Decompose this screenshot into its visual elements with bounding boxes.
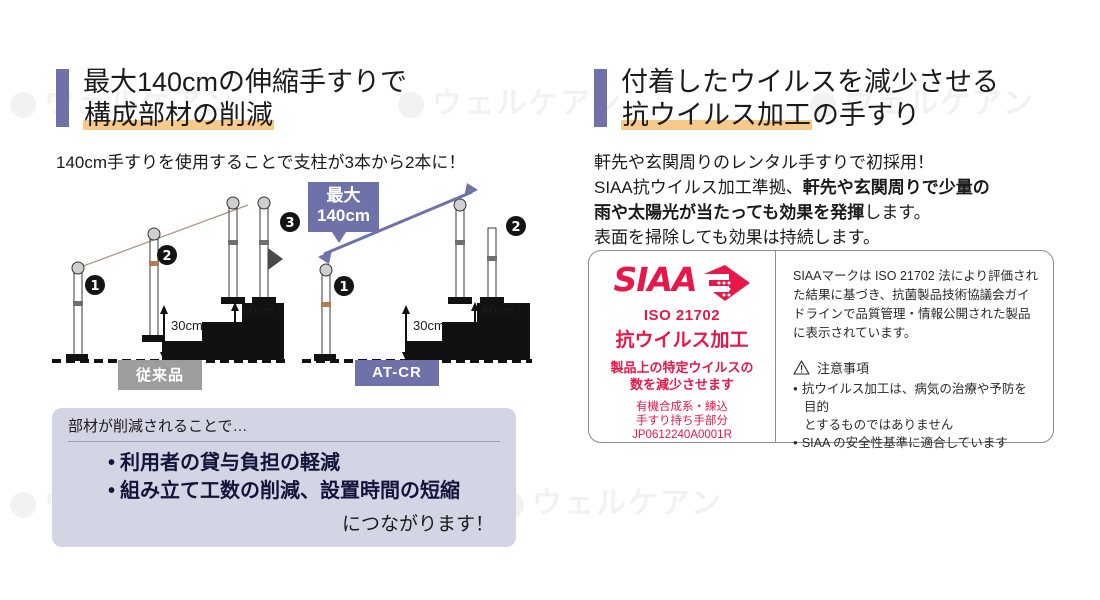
- heading-accent-bar: [56, 69, 69, 127]
- left-heading-line-2: 構成部材の削減: [83, 99, 407, 132]
- svg-text:2: 2: [511, 220, 520, 235]
- watermark: ウェルケアン: [398, 78, 623, 122]
- right-lead-line-4: 表面を掃除しても効果は持続します。: [594, 225, 990, 250]
- post-new-2: [448, 199, 504, 304]
- dim-label-60-new: 60cm: [482, 303, 514, 318]
- svg-text:2: 2: [162, 249, 171, 264]
- brochure-page: ウェルケアン ウェルケアン ウェルケアン ウェルケアン ウェルケアン 最大140…: [0, 0, 1100, 600]
- right-lead-line-3: 雨や太陽光が当たっても効果を発揮します。: [594, 200, 990, 225]
- siaa-logo-panel: SIAA ISO 21702 抗ウイルス加工 製品上の特定ウイルスの 数を減少さ…: [589, 251, 776, 442]
- heading-accent-bar: [594, 69, 607, 127]
- siaa-registration-code: 有機合成系・練込 手すり持ち手部分 JP0612240A0001R: [589, 400, 775, 442]
- dim-label-30-new: 30cm: [413, 318, 445, 333]
- watermark-icon: [10, 92, 36, 118]
- right-heading-line-2: 抗ウイルス加工の手すり: [621, 99, 999, 132]
- benefit-item: 利用者の貸与負担の軽減: [68, 449, 500, 477]
- siaa-notes-panel: SIAAマークは ISO 21702 法により評価された結果に基づき、抗菌製品技…: [776, 251, 1053, 442]
- right-lead-text: 軒先や玄関周りのレンタル手すりで初採用！ SIAA抗ウイルス加工準拠、軒先や玄関…: [594, 150, 990, 250]
- right-heading-highlight: 抗ウイルス加工: [621, 100, 812, 130]
- right-lead-line-1: 軒先や玄関周りのレンタル手すりで初採用！: [594, 150, 990, 175]
- comparison-arrow-icon: [268, 248, 283, 270]
- caution-item-continued: とするものではありません: [793, 416, 1039, 434]
- post-badge-old-2: 2: [157, 245, 177, 265]
- post-new-1: [314, 264, 336, 361]
- caution-item: SIAA の安全性基準に適合しています: [793, 434, 1039, 452]
- post-old-1: [66, 262, 88, 361]
- post-badge-new-1: 1: [334, 276, 354, 296]
- label-atcr: AT-CR: [355, 360, 439, 386]
- siaa-mark-explanation: SIAAマークは ISO 21702 法により評価された結果に基づき、抗菌製品技…: [793, 267, 1039, 343]
- caution-item: 抗ウイルス加工は、病気の治療や予防を目的: [793, 380, 1039, 416]
- post-badge-old-3: 3: [280, 212, 300, 232]
- siaa-description: 製品上の特定ウイルスの 数を減少させます: [589, 359, 775, 393]
- callout-pointer-icon: [330, 229, 348, 243]
- right-lead-line-2: SIAA抗ウイルス加工準拠、軒先や玄関周りで少量の: [594, 175, 990, 200]
- callout-line-1: 最大: [317, 186, 370, 206]
- svg-text:3: 3: [285, 216, 294, 231]
- warning-triangle-icon: [793, 360, 810, 375]
- watermark-text: ウェルケアン: [532, 487, 723, 520]
- siaa-logo: SIAA: [589, 264, 775, 304]
- svg-text:1: 1: [90, 279, 99, 294]
- dim-label-60-old: 60cm: [242, 303, 274, 318]
- siaa-diamond-icon: [699, 264, 751, 304]
- siaa-wordmark: SIAA: [613, 264, 696, 296]
- left-heading-highlight: 構成部材の削減: [83, 100, 274, 130]
- siaa-iso-number: ISO 21702: [589, 307, 775, 324]
- left-heading-line-1: 最大140cmの伸縮手すりで: [83, 66, 407, 99]
- benefits-tail-text: につながります！: [68, 509, 500, 536]
- watermark-icon: [10, 492, 36, 518]
- left-lead-text: 140cm手すりを使用することで支柱が3本から2本に！: [56, 150, 465, 175]
- dim-label-30-old: 30cm: [171, 318, 203, 333]
- benefits-box: 部材が削減されることで… 利用者の貸与負担の軽減 組み立て工数の削減、設置時間の…: [52, 408, 516, 547]
- callout-line-2: 140cm: [317, 206, 370, 226]
- watermark: ウェルケアン: [498, 478, 723, 522]
- svg-text:1: 1: [339, 280, 348, 295]
- caution-title: 注意事項: [817, 358, 869, 377]
- left-heading: 最大140cmの伸縮手すりで 構成部材の削減: [56, 66, 407, 132]
- right-heading-line-2-rest: の手すり: [812, 100, 920, 130]
- benefit-item: 組み立て工数の削減、設置時間の短縮: [68, 477, 500, 505]
- siaa-certification-card: SIAA ISO 21702 抗ウイルス加工 製品上の特定ウイルスの 数を減少さ…: [588, 250, 1054, 443]
- right-heading-line-1: 付着したウイルスを減少させる: [621, 66, 999, 99]
- caution-header: 注意事項: [793, 358, 1039, 377]
- post-badge-new-2: 2: [506, 216, 526, 236]
- right-heading: 付着したウイルスを減少させる 抗ウイルス加工の手すり: [594, 66, 999, 132]
- label-conventional: 従来品: [118, 360, 202, 390]
- diagram-conventional: 1 2 3 30cm 60cm: [52, 197, 300, 361]
- post-badge-old-1: 1: [85, 275, 105, 295]
- siaa-antiviral-label: 抗ウイルス加工: [589, 325, 775, 352]
- benefits-heading: 部材が削減されることで…: [68, 415, 500, 442]
- max-length-callout: 最大 140cm: [308, 182, 379, 232]
